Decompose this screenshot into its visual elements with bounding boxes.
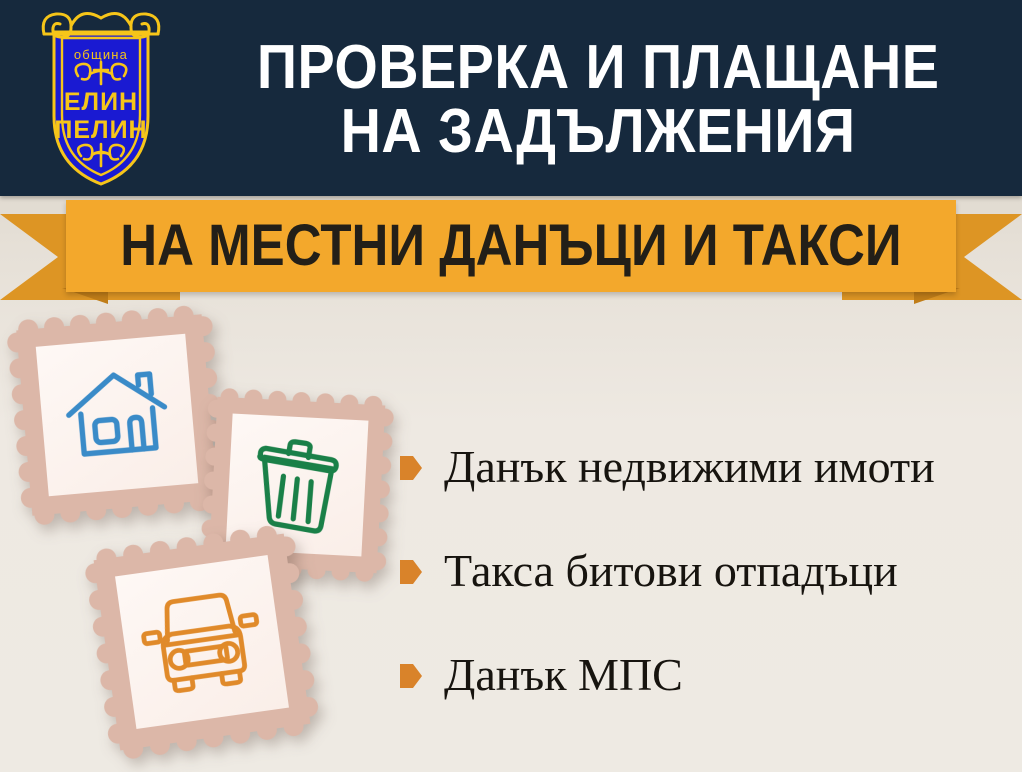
list-item-label: Такса битови отпадъци <box>444 547 898 595</box>
obligations-list: Данък недвижими имоти Такса битови отпад… <box>400 415 1010 727</box>
crest-word-line2: ПЕЛИН <box>54 116 147 144</box>
list-item[interactable]: Данък МПС <box>400 623 1010 727</box>
car-front-icon <box>135 584 270 700</box>
arrow-bullet-icon <box>400 664 422 688</box>
header-bar: община ЕЛИН ПЕЛИН <box>0 0 1022 196</box>
title-line-2: НА ЗАДЪЛЖЕНИЯ <box>341 100 856 164</box>
ribbon-panel: НА МЕСТНИ ДАНЪЦИ И ТАКСИ <box>66 200 956 292</box>
list-item-label: Данък недвижими имоти <box>444 443 935 491</box>
poster-canvas: община ЕЛИН ПЕЛИН <box>0 0 1022 772</box>
crest-word-top: община <box>74 47 128 62</box>
title-line-1: ПРОВЕРКА И ПЛАЩАНЕ <box>257 36 940 100</box>
list-item-label: Данък МПС <box>444 651 683 699</box>
crest-word-line1: ЕЛИН <box>64 88 138 116</box>
subtitle-ribbon: НА МЕСТНИ ДАНЪЦИ И ТАКСИ <box>0 196 1022 308</box>
page-title: ПРОВЕРКА И ПЛАЩАНЕ НА ЗАДЪЛЖЕНИЯ <box>188 10 1008 190</box>
list-item[interactable]: Данък недвижими имоти <box>400 415 1010 519</box>
list-item[interactable]: Такса битови отпадъци <box>400 519 1010 623</box>
trash-bin-icon <box>252 435 343 535</box>
stamp-card-car <box>82 522 321 761</box>
ribbon-label: НА МЕСТНИ ДАНЪЦИ И ТАКСИ <box>120 217 901 275</box>
arrow-bullet-icon <box>400 456 422 480</box>
stamp-card-house <box>5 303 228 526</box>
arrow-bullet-icon <box>400 560 422 584</box>
coat-of-arms: община ЕЛИН ПЕЛИН <box>26 4 176 192</box>
house-icon <box>59 362 175 467</box>
